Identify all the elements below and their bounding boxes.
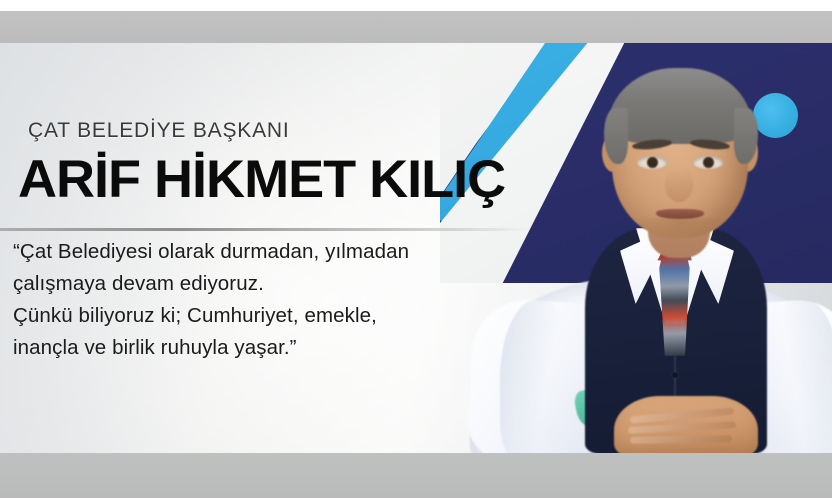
chin-shadow [640,218,722,240]
quote-line: Çünkü biliyoruz ki; Cumhuriyet, emekle, [13,300,533,332]
top-white-edge [0,0,832,11]
shirt-fold-right [770,300,832,458]
role-title: ÇAT BELEDİYE BAŞKANI [28,119,289,143]
letterbox-bar-bottom [0,453,832,498]
vest-button [672,372,678,378]
quote-line: “Çat Belediyesi olarak durmadan, yılmada… [13,236,533,268]
quote-line: inançla ve birlik ruhuyla yaşar.” [13,332,533,364]
quote-line: çalışmaya devam ediyoruz. [13,268,533,300]
quote-block: “Çat Belediyesi olarak durmadan, yılmada… [13,236,533,364]
person-name: ARİF HİKMET KILIÇ [18,153,505,206]
pupil-right [703,157,714,168]
nose [665,168,693,202]
hair-side-left [604,108,628,164]
mayor-quote-banner: ÇAT BELEDİYE BAŞKANI ARİF HİKMET KILIÇ “… [0,0,832,498]
hair [608,68,752,144]
pupil-left [647,157,658,168]
letterbox-bar-top [0,11,832,43]
divider-rule [0,228,530,231]
